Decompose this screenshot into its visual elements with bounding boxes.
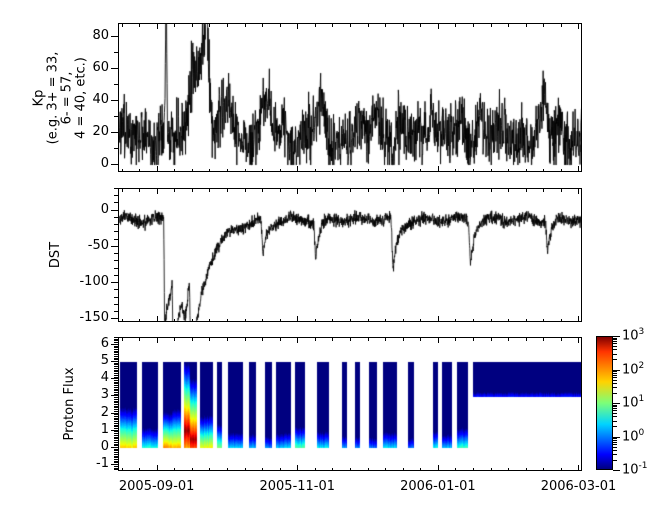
figure-root: 020406080Kp(e.g. 3+ = 33,6- = 57,4 = 40,… bbox=[0, 0, 665, 523]
colorbar-minor-tick bbox=[613, 447, 617, 448]
y-minor-tick bbox=[114, 217, 118, 218]
x-minor-tick bbox=[227, 468, 228, 472]
colorbar-tick-label: 100 bbox=[622, 428, 644, 444]
colorbar-tick-label: 102 bbox=[622, 361, 644, 377]
colorbar-minor-tick bbox=[613, 444, 617, 445]
y-minor-tick bbox=[114, 383, 118, 384]
y-tick-label: 5 bbox=[93, 353, 109, 368]
x-minor-tick bbox=[561, 188, 562, 192]
proton-flux-panel bbox=[118, 337, 582, 471]
y-minor-tick bbox=[114, 419, 118, 420]
x-minor-tick bbox=[403, 188, 404, 192]
y-minor-tick bbox=[114, 452, 118, 453]
y-major-tick bbox=[111, 318, 118, 319]
y-tick-label: 60 bbox=[87, 60, 109, 75]
x-minor-tick bbox=[245, 337, 246, 341]
x-minor-tick bbox=[262, 23, 263, 27]
x-minor-tick bbox=[455, 169, 456, 173]
y-minor-tick bbox=[114, 454, 118, 455]
x-minor-tick bbox=[368, 468, 369, 472]
colorbar-minor-tick bbox=[613, 454, 617, 455]
x-minor-tick bbox=[315, 468, 316, 472]
x-minor-tick bbox=[122, 319, 123, 323]
axis-label-kp: Kp(e.g. 3+ = 33,6- = 57,4 = 40, etc.) bbox=[32, 3, 88, 192]
colorbar-minor-tick bbox=[613, 408, 617, 409]
y-minor-tick bbox=[114, 438, 118, 439]
x-minor-tick bbox=[192, 319, 193, 323]
y-major-tick bbox=[111, 282, 118, 283]
x-minor-tick bbox=[350, 23, 351, 27]
x-minor-tick bbox=[350, 319, 351, 323]
x-minor-tick bbox=[192, 468, 193, 472]
y-minor-tick bbox=[114, 382, 118, 383]
y-tick-label: 0 bbox=[87, 156, 109, 171]
x-minor-tick bbox=[245, 319, 246, 323]
y-major-tick bbox=[111, 164, 118, 165]
x-major-tick bbox=[438, 316, 439, 322]
x-major-tick bbox=[438, 188, 439, 194]
x-minor-tick bbox=[508, 337, 509, 341]
x-major-tick bbox=[297, 316, 298, 322]
y-tick-label: 40 bbox=[87, 92, 109, 107]
y-tick-label: 0 bbox=[75, 202, 109, 217]
x-minor-tick bbox=[455, 468, 456, 472]
x-minor-tick bbox=[332, 319, 333, 323]
x-major-tick bbox=[157, 316, 158, 322]
x-minor-tick bbox=[473, 188, 474, 192]
x-minor-tick bbox=[491, 23, 492, 27]
x-minor-tick bbox=[227, 188, 228, 192]
y-tick-label: -1 bbox=[93, 456, 109, 471]
x-minor-tick bbox=[526, 169, 527, 173]
x-minor-tick bbox=[561, 337, 562, 341]
axis-label-flux: Proton Flux bbox=[63, 317, 77, 491]
x-major-tick bbox=[438, 465, 439, 471]
x-minor-tick bbox=[280, 169, 281, 173]
y-minor-tick bbox=[114, 462, 118, 463]
x-minor-tick bbox=[561, 468, 562, 472]
x-minor-tick bbox=[403, 337, 404, 341]
x-minor-tick bbox=[262, 169, 263, 173]
colorbar-minor-tick bbox=[613, 438, 617, 439]
y-minor-tick bbox=[114, 289, 118, 290]
dst-timeseries bbox=[119, 189, 582, 322]
x-minor-tick bbox=[526, 23, 527, 27]
y-minor-tick bbox=[114, 116, 118, 117]
y-minor-tick bbox=[114, 148, 118, 149]
y-minor-tick bbox=[114, 224, 118, 225]
y-minor-tick bbox=[114, 351, 118, 352]
y-minor-tick bbox=[114, 356, 118, 357]
x-minor-tick bbox=[245, 468, 246, 472]
x-minor-tick bbox=[192, 188, 193, 192]
kp-panel bbox=[118, 23, 582, 172]
y-minor-tick bbox=[114, 418, 118, 419]
colorbar-minor-tick bbox=[613, 359, 617, 360]
x-minor-tick bbox=[139, 169, 140, 173]
y-minor-tick bbox=[114, 431, 118, 432]
y-minor-tick bbox=[114, 231, 118, 232]
y-minor-tick bbox=[114, 311, 118, 312]
x-minor-tick bbox=[245, 188, 246, 192]
y-minor-tick bbox=[114, 421, 118, 422]
x-major-tick bbox=[578, 23, 579, 29]
y-minor-tick bbox=[114, 52, 118, 53]
x-minor-tick bbox=[280, 468, 281, 472]
x-minor-tick bbox=[368, 169, 369, 173]
y-minor-tick bbox=[114, 407, 118, 408]
colorbar-minor-tick bbox=[613, 393, 617, 394]
colorbar-minor-tick bbox=[613, 442, 617, 443]
y-minor-tick bbox=[114, 425, 118, 426]
colorbar-major-tick bbox=[613, 470, 620, 471]
y-tick-label: -100 bbox=[75, 274, 109, 289]
y-tick-label: 3 bbox=[93, 387, 109, 402]
x-minor-tick bbox=[403, 23, 404, 27]
y-minor-tick bbox=[114, 389, 118, 390]
y-minor-tick bbox=[114, 364, 118, 365]
colorbar-minor-tick bbox=[613, 354, 617, 355]
flux-colorbar[interactable] bbox=[596, 336, 613, 470]
x-tick-label: 2005-11-01 bbox=[247, 479, 347, 494]
colorbar-minor-tick bbox=[613, 346, 617, 347]
x-minor-tick bbox=[543, 319, 544, 323]
x-minor-tick bbox=[403, 169, 404, 173]
y-minor-tick bbox=[114, 195, 118, 196]
y-minor-tick bbox=[114, 409, 118, 410]
x-minor-tick bbox=[332, 468, 333, 472]
y-minor-tick bbox=[114, 349, 118, 350]
y-major-tick bbox=[111, 132, 118, 133]
y-minor-tick bbox=[114, 339, 118, 340]
y-minor-tick bbox=[114, 444, 118, 445]
x-minor-tick bbox=[455, 23, 456, 27]
x-minor-tick bbox=[526, 468, 527, 472]
x-minor-tick bbox=[543, 169, 544, 173]
colorbar-minor-tick bbox=[613, 343, 617, 344]
x-minor-tick bbox=[491, 337, 492, 341]
y-minor-tick bbox=[114, 428, 118, 429]
x-minor-tick bbox=[491, 169, 492, 173]
x-minor-tick bbox=[508, 23, 509, 27]
y-minor-tick bbox=[114, 423, 118, 424]
y-minor-tick bbox=[114, 392, 118, 393]
x-minor-tick bbox=[561, 169, 562, 173]
y-minor-tick bbox=[114, 394, 118, 395]
y-minor-tick bbox=[114, 253, 118, 254]
y-minor-tick bbox=[114, 468, 118, 469]
x-minor-tick bbox=[332, 337, 333, 341]
y-minor-tick bbox=[114, 440, 118, 441]
colorbar-tick-label: 10-1 bbox=[622, 461, 648, 477]
y-minor-tick bbox=[114, 377, 118, 378]
x-minor-tick bbox=[227, 23, 228, 27]
colorbar-minor-tick bbox=[613, 406, 617, 407]
x-minor-tick bbox=[403, 319, 404, 323]
colorbar-minor-tick bbox=[613, 338, 617, 339]
x-minor-tick bbox=[403, 468, 404, 472]
x-minor-tick bbox=[262, 337, 263, 341]
y-minor-tick bbox=[114, 359, 118, 360]
y-tick-label: 6 bbox=[93, 336, 109, 351]
y-major-tick bbox=[111, 100, 118, 101]
x-minor-tick bbox=[350, 188, 351, 192]
x-major-tick bbox=[297, 465, 298, 471]
colorbar-minor-tick bbox=[613, 405, 617, 406]
y-minor-tick bbox=[114, 402, 118, 403]
x-minor-tick bbox=[473, 23, 474, 27]
x-major-tick bbox=[438, 337, 439, 343]
y-minor-tick bbox=[114, 370, 118, 371]
colorbar-minor-tick bbox=[613, 440, 617, 441]
x-minor-tick bbox=[473, 468, 474, 472]
x-minor-tick bbox=[139, 468, 140, 472]
y-minor-tick bbox=[114, 375, 118, 376]
colorbar-minor-tick bbox=[613, 460, 617, 461]
x-minor-tick bbox=[350, 337, 351, 341]
x-minor-tick bbox=[473, 319, 474, 323]
x-minor-tick bbox=[543, 23, 544, 27]
x-minor-tick bbox=[209, 319, 210, 323]
x-minor-tick bbox=[420, 468, 421, 472]
x-major-tick bbox=[438, 23, 439, 29]
y-minor-tick bbox=[114, 346, 118, 347]
x-minor-tick bbox=[280, 319, 281, 323]
x-minor-tick bbox=[245, 169, 246, 173]
x-minor-tick bbox=[139, 23, 140, 27]
y-minor-tick bbox=[114, 297, 118, 298]
x-minor-tick bbox=[526, 319, 527, 323]
y-minor-tick bbox=[114, 401, 118, 402]
x-minor-tick bbox=[139, 188, 140, 192]
x-minor-tick bbox=[508, 319, 509, 323]
x-minor-tick bbox=[122, 23, 123, 27]
y-minor-tick bbox=[114, 433, 118, 434]
colorbar-minor-tick bbox=[613, 387, 617, 388]
y-tick-label: 20 bbox=[87, 124, 109, 139]
x-minor-tick bbox=[209, 188, 210, 192]
x-minor-tick bbox=[473, 169, 474, 173]
y-minor-tick bbox=[114, 399, 118, 400]
y-minor-tick bbox=[114, 371, 118, 372]
y-minor-tick bbox=[114, 457, 118, 458]
y-tick-label: 2 bbox=[93, 405, 109, 420]
y-minor-tick bbox=[114, 202, 118, 203]
proton-flux-spectrogram bbox=[119, 338, 582, 471]
x-minor-tick bbox=[491, 319, 492, 323]
x-minor-tick bbox=[420, 337, 421, 341]
x-major-tick bbox=[578, 465, 579, 471]
y-minor-tick bbox=[114, 380, 118, 381]
x-minor-tick bbox=[368, 23, 369, 27]
y-minor-tick bbox=[114, 411, 118, 412]
x-minor-tick bbox=[315, 188, 316, 192]
x-minor-tick bbox=[315, 319, 316, 323]
y-major-tick bbox=[111, 210, 118, 211]
y-minor-tick bbox=[114, 397, 118, 398]
y-minor-tick bbox=[114, 390, 118, 391]
y-minor-tick bbox=[114, 387, 118, 388]
x-minor-tick bbox=[227, 319, 228, 323]
y-tick-label: -50 bbox=[75, 238, 109, 253]
y-minor-tick bbox=[114, 404, 118, 405]
y-minor-tick bbox=[114, 414, 118, 415]
y-tick-label: -150 bbox=[75, 310, 109, 325]
x-minor-tick bbox=[315, 337, 316, 341]
x-major-tick bbox=[578, 188, 579, 194]
y-minor-tick bbox=[114, 342, 118, 343]
colorbar-minor-tick bbox=[613, 410, 617, 411]
x-minor-tick bbox=[245, 23, 246, 27]
y-minor-tick bbox=[114, 268, 118, 269]
x-minor-tick bbox=[332, 169, 333, 173]
x-major-tick bbox=[297, 166, 298, 172]
x-minor-tick bbox=[174, 188, 175, 192]
colorbar-minor-tick bbox=[613, 416, 617, 417]
x-minor-tick bbox=[508, 468, 509, 472]
x-major-tick bbox=[297, 188, 298, 194]
y-minor-tick bbox=[114, 188, 118, 189]
colorbar-minor-tick bbox=[613, 349, 617, 350]
colorbar-minor-tick bbox=[613, 377, 617, 378]
y-minor-tick bbox=[114, 304, 118, 305]
y-minor-tick bbox=[114, 437, 118, 438]
x-minor-tick bbox=[174, 468, 175, 472]
y-major-tick bbox=[111, 36, 118, 37]
x-major-tick bbox=[157, 166, 158, 172]
y-tick-label: 80 bbox=[87, 28, 109, 43]
colorbar-minor-tick bbox=[613, 426, 617, 427]
x-minor-tick bbox=[332, 188, 333, 192]
x-minor-tick bbox=[455, 188, 456, 192]
x-minor-tick bbox=[368, 188, 369, 192]
y-minor-tick bbox=[114, 275, 118, 276]
y-minor-tick bbox=[114, 406, 118, 407]
x-minor-tick bbox=[561, 23, 562, 27]
x-minor-tick bbox=[174, 337, 175, 341]
x-major-tick bbox=[578, 166, 579, 172]
x-minor-tick bbox=[262, 468, 263, 472]
x-minor-tick bbox=[174, 319, 175, 323]
y-minor-tick bbox=[114, 459, 118, 460]
x-minor-tick bbox=[192, 337, 193, 341]
x-minor-tick bbox=[122, 188, 123, 192]
colorbar-minor-tick bbox=[613, 341, 617, 342]
y-tick-label: 1 bbox=[93, 422, 109, 437]
y-minor-tick bbox=[114, 435, 118, 436]
colorbar-tick-label: 101 bbox=[622, 394, 644, 410]
x-minor-tick bbox=[209, 169, 210, 173]
x-minor-tick bbox=[491, 188, 492, 192]
y-minor-tick bbox=[114, 445, 118, 446]
x-minor-tick bbox=[543, 468, 544, 472]
x-minor-tick bbox=[473, 337, 474, 341]
x-major-tick bbox=[297, 337, 298, 343]
colorbar-minor-tick bbox=[613, 413, 617, 414]
y-minor-tick bbox=[114, 426, 118, 427]
x-minor-tick bbox=[332, 23, 333, 27]
x-minor-tick bbox=[508, 169, 509, 173]
colorbar-minor-tick bbox=[613, 375, 617, 376]
y-minor-tick bbox=[114, 347, 118, 348]
x-major-tick bbox=[157, 337, 158, 343]
x-minor-tick bbox=[385, 319, 386, 323]
x-minor-tick bbox=[561, 319, 562, 323]
x-minor-tick bbox=[543, 188, 544, 192]
colorbar-minor-tick bbox=[613, 380, 617, 381]
y-minor-tick bbox=[114, 352, 118, 353]
x-tick-label: 2005-09-01 bbox=[107, 479, 207, 494]
x-minor-tick bbox=[139, 337, 140, 341]
colorbar-minor-tick bbox=[613, 339, 617, 340]
y-minor-tick bbox=[114, 340, 118, 341]
y-minor-tick bbox=[114, 416, 118, 417]
x-minor-tick bbox=[262, 188, 263, 192]
x-tick-label: 2006-03-01 bbox=[528, 479, 628, 494]
x-minor-tick bbox=[543, 337, 544, 341]
y-minor-tick bbox=[114, 363, 118, 364]
x-minor-tick bbox=[192, 169, 193, 173]
y-minor-tick bbox=[114, 456, 118, 457]
x-minor-tick bbox=[209, 468, 210, 472]
y-tick-label: 0 bbox=[93, 439, 109, 454]
x-minor-tick bbox=[174, 23, 175, 27]
colorbar-tick-label: 103 bbox=[622, 327, 644, 343]
y-minor-tick bbox=[114, 239, 118, 240]
x-minor-tick bbox=[280, 188, 281, 192]
x-minor-tick bbox=[209, 23, 210, 27]
colorbar-minor-tick bbox=[613, 383, 617, 384]
x-tick-label: 2006-01-01 bbox=[388, 479, 488, 494]
x-major-tick bbox=[578, 316, 579, 322]
y-minor-tick bbox=[114, 450, 118, 451]
y-minor-tick bbox=[114, 84, 118, 85]
y-minor-tick bbox=[114, 354, 118, 355]
x-minor-tick bbox=[420, 188, 421, 192]
x-major-tick bbox=[438, 166, 439, 172]
x-minor-tick bbox=[174, 169, 175, 173]
x-minor-tick bbox=[491, 468, 492, 472]
y-minor-tick bbox=[114, 466, 118, 467]
y-minor-tick bbox=[114, 461, 118, 462]
x-minor-tick bbox=[350, 169, 351, 173]
x-minor-tick bbox=[385, 23, 386, 27]
x-major-tick bbox=[157, 23, 158, 29]
colorbar-minor-tick bbox=[613, 371, 617, 372]
y-major-tick bbox=[111, 68, 118, 69]
y-minor-tick bbox=[114, 337, 118, 338]
x-minor-tick bbox=[350, 468, 351, 472]
x-minor-tick bbox=[280, 23, 281, 27]
x-minor-tick bbox=[122, 468, 123, 472]
x-minor-tick bbox=[209, 337, 210, 341]
x-minor-tick bbox=[227, 169, 228, 173]
x-minor-tick bbox=[420, 319, 421, 323]
axis-label-dst: DST bbox=[49, 168, 63, 342]
x-minor-tick bbox=[122, 337, 123, 341]
y-minor-tick bbox=[114, 358, 118, 359]
colorbar-minor-tick bbox=[613, 421, 617, 422]
y-minor-tick bbox=[114, 260, 118, 261]
x-minor-tick bbox=[455, 337, 456, 341]
x-minor-tick bbox=[385, 188, 386, 192]
x-minor-tick bbox=[420, 23, 421, 27]
x-minor-tick bbox=[385, 468, 386, 472]
y-minor-tick bbox=[114, 366, 118, 367]
x-minor-tick bbox=[122, 169, 123, 173]
x-minor-tick bbox=[139, 319, 140, 323]
y-minor-tick bbox=[114, 373, 118, 374]
